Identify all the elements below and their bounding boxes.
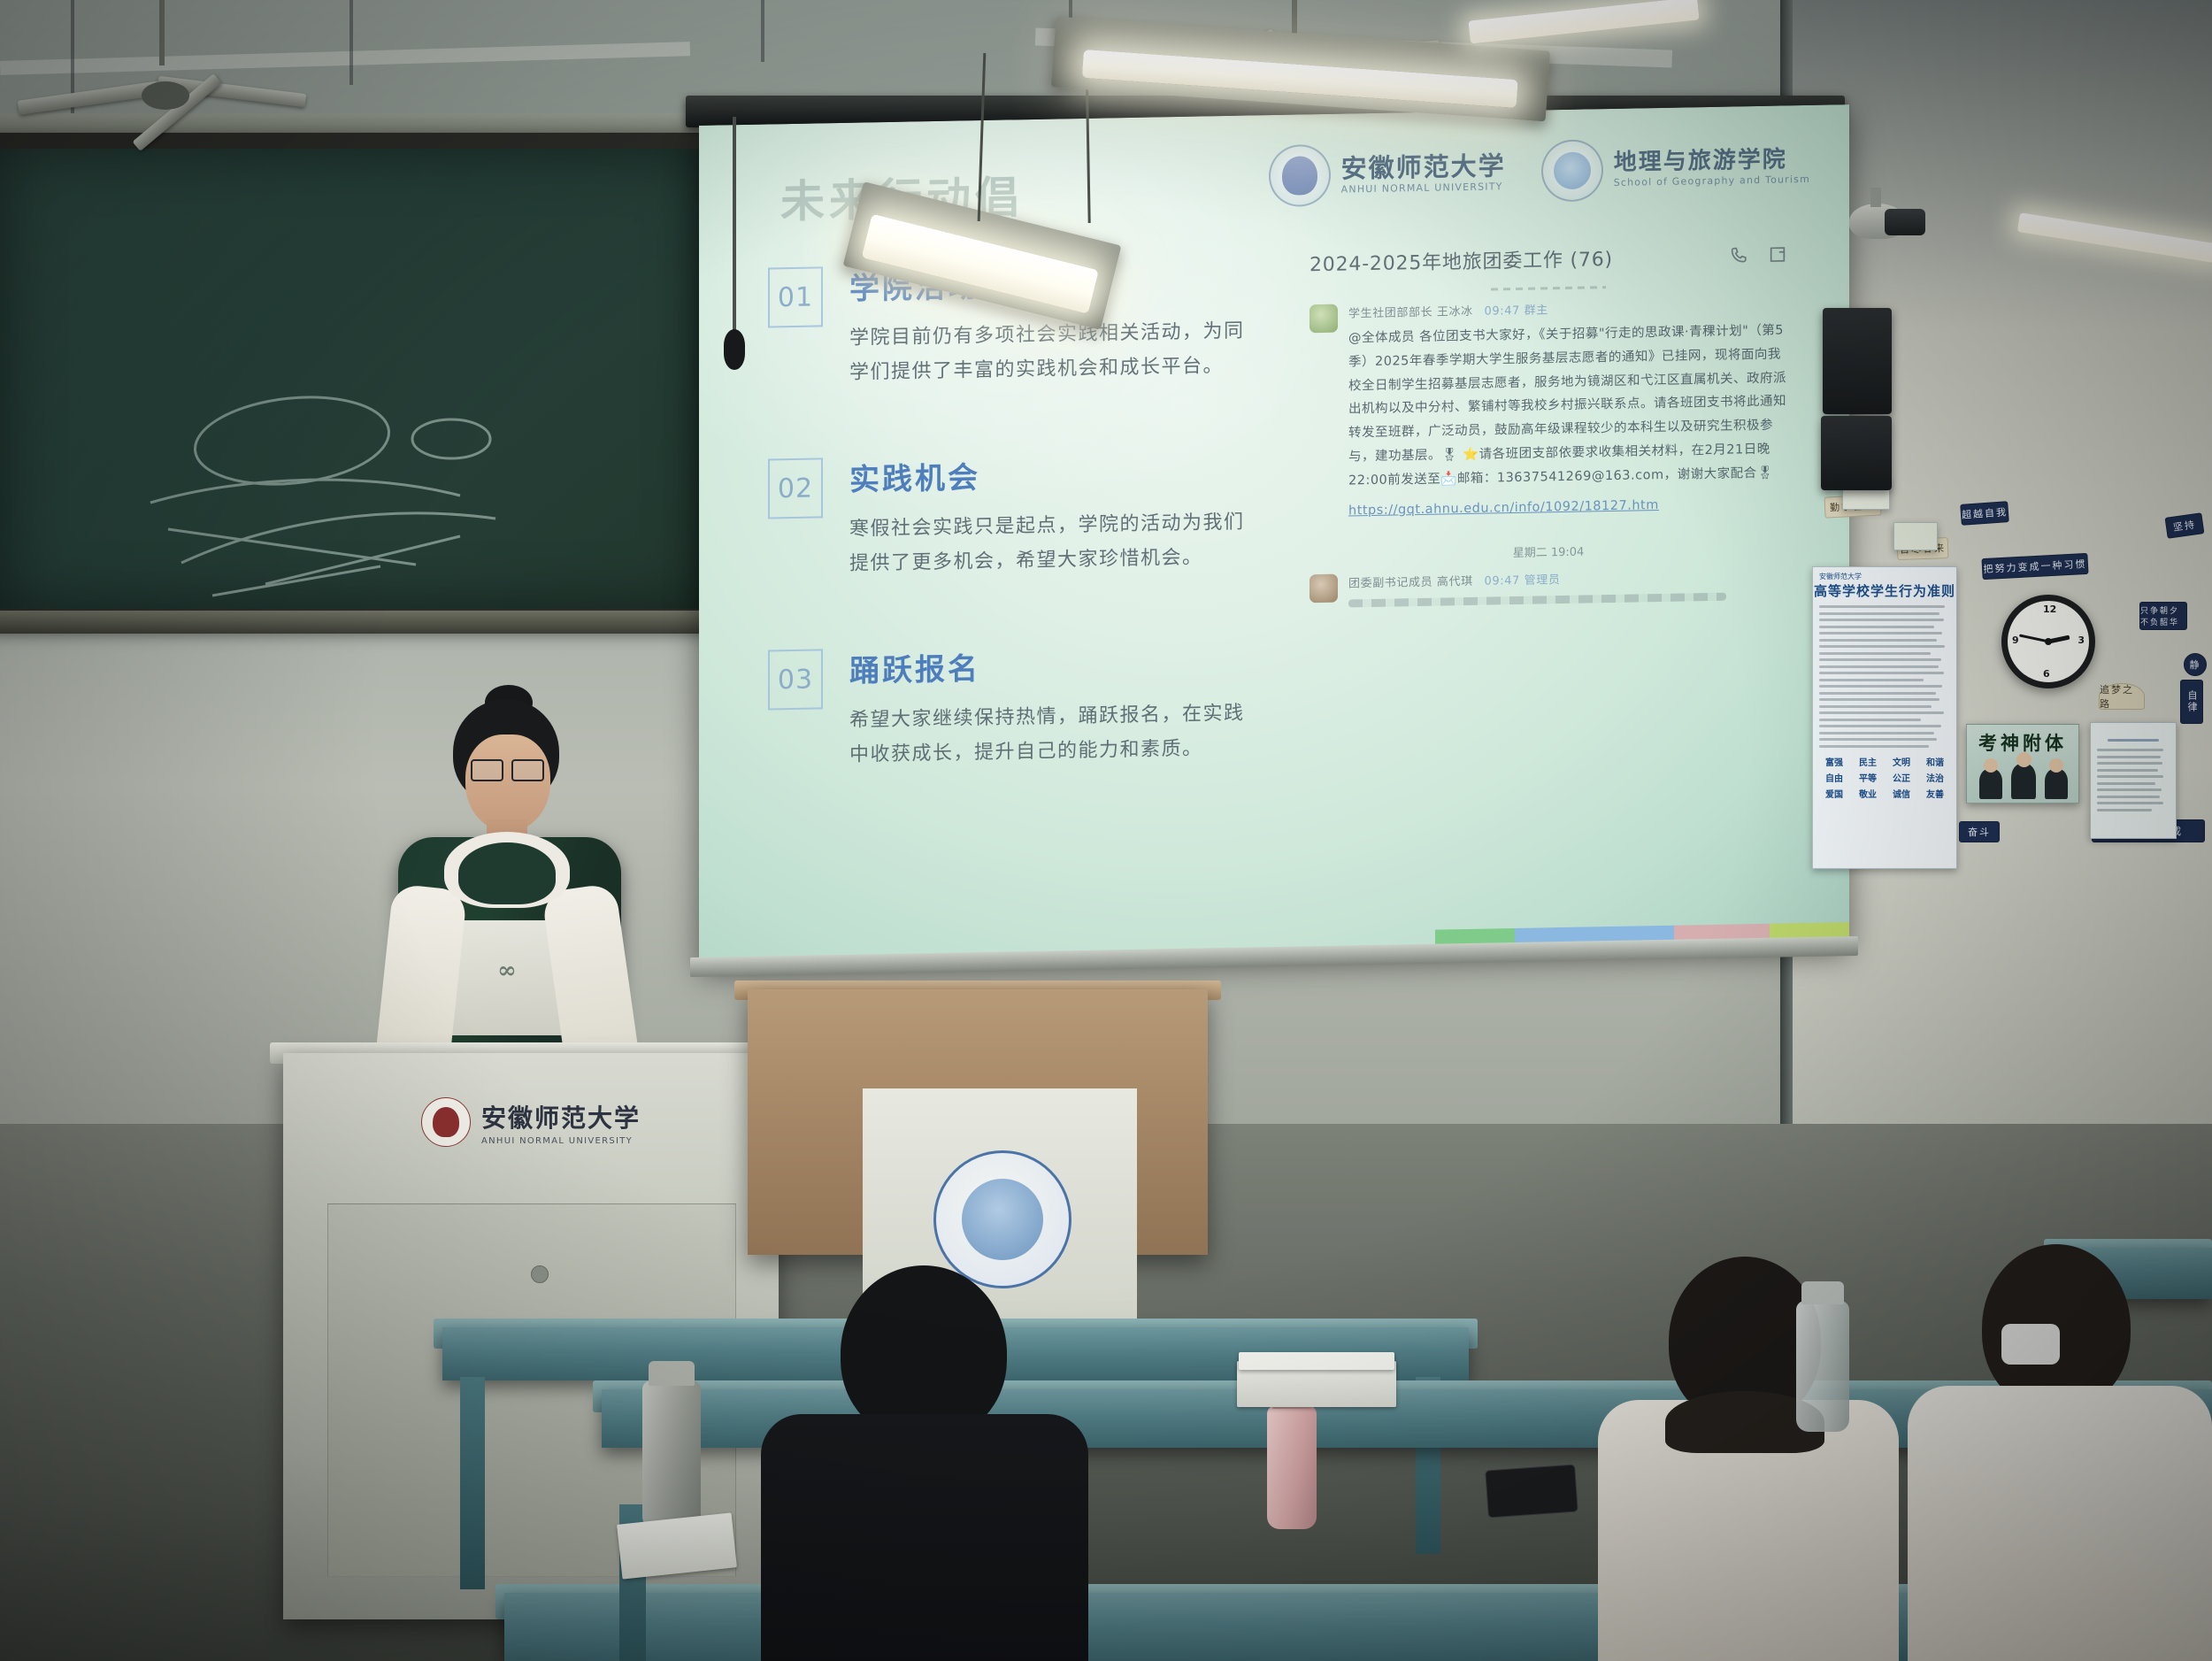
core-value: 诚信: [1886, 787, 1917, 800]
bottle-cap[interactable]: [1801, 1281, 1844, 1304]
sender-name: 团委副书记成员 高代琪: [1348, 574, 1473, 590]
wall-speaker: [1823, 308, 1892, 414]
core-value: 富强: [1818, 755, 1850, 768]
student: [1584, 1257, 1911, 1661]
core-value: 法治: [1919, 771, 1951, 784]
core-values-list: 富强 民主 文明 和谐 自由 平等 公正 法治 爱国 敬业 诚信 友善: [1818, 755, 1951, 800]
core-value: 爱国: [1818, 787, 1850, 800]
slide-item: 02 实践机会 寒假社会实践只是起点，学院的活动为我们提供了更多机会，希望大家珍…: [768, 448, 1263, 582]
hanging-microphone-icon: [724, 329, 745, 370]
core-value: 自由: [1818, 771, 1850, 784]
logo-cn-label: 地理与旅游学院: [1614, 148, 1810, 175]
item-number: 01: [768, 266, 823, 327]
sender-name: 学生社团部部长 王冰冰: [1348, 305, 1473, 321]
wall-plaque: 自律: [2180, 680, 2203, 724]
wall-plaque: 超越自我: [1960, 501, 2009, 526]
anhui-normal-seal-icon: [1269, 144, 1331, 207]
lectern-knob[interactable]: [531, 1265, 549, 1283]
slide-item: 03 踊跃报名 希望大家继续保持热情，踊跃报名，在实践中收获成长，提升自己的能力…: [768, 639, 1263, 773]
poster-body-lines: [1819, 605, 1950, 748]
chat-timestamp: 星期二 19:04: [1310, 538, 1787, 564]
core-value: 友善: [1919, 787, 1951, 800]
chat-screenshot: 2024-2025年地旅团委工作 (76): [1310, 240, 1787, 607]
core-value: 文明: [1886, 755, 1917, 768]
core-value: 和谐: [1919, 755, 1951, 768]
item-number: 03: [768, 649, 823, 710]
logo-cn-label: 安徽师范大学: [1341, 152, 1506, 182]
screen-share-icon[interactable]: [1768, 244, 1787, 264]
message-sender: 学生社团部部长 王冰冰 09:47 群主: [1348, 296, 1787, 320]
chat-message: 团委副书记成员 高代琪 09:47 管理员: [1310, 565, 1787, 608]
phone[interactable]: [1485, 1465, 1578, 1519]
logo-en-label: School of Geography and Tourism: [1614, 174, 1810, 188]
core-value: 民主: [1852, 755, 1884, 768]
jacket-graphic: ∞: [451, 957, 565, 984]
message-body: @全体成员 各位团支书大家好，《关于招募"行走的思政课·青稞计划"（第5季）20…: [1348, 319, 1787, 493]
item-heading: 踊跃报名: [849, 639, 1263, 690]
logo-anhui-normal-university: 安徽师范大学 ANHUI NORMAL UNIVERSITY: [1269, 141, 1506, 207]
avatar: [1310, 304, 1338, 334]
face: [465, 734, 550, 832]
notebook-page[interactable]: [1239, 1352, 1394, 1370]
clock-center: [2045, 638, 2052, 645]
avatar: [1310, 573, 1338, 603]
wall-plaque: 静: [2184, 653, 2207, 676]
ceiling-fan: [18, 62, 310, 133]
hood-inner: [458, 842, 556, 904]
chat-title: 2024-2025年地旅团委工作 (76): [1310, 243, 1613, 277]
chat-message: 学生社团部部长 王冰冰 09:47 群主 @全体成员 各位团支书大家好，《关于招…: [1310, 296, 1787, 523]
ceiling-wire: [349, 0, 353, 85]
microphone-cable: [733, 117, 736, 336]
message-body-blurred: [1348, 592, 1726, 607]
item-number: 02: [768, 458, 823, 519]
wall-clock: 12 3 6 9: [2001, 595, 2095, 688]
wall-speaker: [1821, 416, 1892, 490]
chat-header: 2024-2025年地旅团委工作 (76): [1310, 240, 1787, 277]
lectern-logo: 安徽师范大学 ANHUI NORMAL UNIVERSITY: [421, 1097, 641, 1147]
message-sender: 团委副书记成员 高代琪 09:47 管理员: [1348, 565, 1787, 590]
wall-plaque: 奋斗: [1959, 821, 2000, 842]
classroom-scene: 未来行动倡 安徽师范大学 ANHUI NORMAL UNIVERSITY 地理与…: [0, 0, 2212, 1661]
lectern-logo-en: ANHUI NORMAL UNIVERSITY: [481, 1136, 641, 1146]
item-text: 寒假社会实践只是起点，学院的活动为我们提供了更多机会，希望大家珍惜机会。: [849, 505, 1263, 581]
geography-tourism-seal-icon: [1541, 139, 1603, 202]
core-value: 公正: [1886, 771, 1917, 784]
message-link[interactable]: https://gqt.ahnu.edu.cn/info/1092/18127.…: [1348, 498, 1659, 518]
thermos-cap[interactable]: [649, 1361, 695, 1386]
core-value: 敬业: [1852, 787, 1884, 800]
wall-plaque: 只争朝夕 不负韶华: [2139, 602, 2187, 630]
glasses-icon: [471, 759, 545, 779]
student: [734, 1265, 1106, 1661]
wall-sign: [1893, 522, 1938, 550]
anhui-normal-seal-icon: [421, 1097, 471, 1147]
exam-poster-title: 考神附体: [1967, 725, 2078, 756]
water-bottle[interactable]: [1796, 1301, 1849, 1432]
item-text: 学院目前仍有多项社会实践相关活动，为同学们提供了丰富的实践机会和成长平台。: [849, 314, 1263, 390]
thermos[interactable]: [642, 1380, 701, 1529]
logo-en-label: ANHUI NORMAL UNIVERSITY: [1341, 181, 1506, 195]
phone-icon[interactable]: [1729, 245, 1748, 265]
item-heading: 实践机会: [849, 448, 1263, 499]
slide-logos: 安徽师范大学 ANHUI NORMAL UNIVERSITY 地理与旅游学院 S…: [1269, 135, 1810, 207]
sender-tag: 09:47 管理员: [1484, 573, 1560, 588]
wall-notice: [2090, 722, 2177, 839]
item-text: 希望大家继续保持热情，踊跃报名，在实践中收获成长，提升自己的能力和素质。: [849, 696, 1263, 773]
logo-school-of-geography-and-tourism: 地理与旅游学院 School of Geography and Tourism: [1541, 135, 1810, 203]
poster-title: 高等学校学生行为准则: [1813, 581, 1956, 600]
core-value: 平等: [1852, 771, 1884, 784]
sender-tag: 09:47 群主: [1484, 304, 1548, 318]
student-code-poster: 安徽师范大学 高等学校学生行为准则 富强 民主 文明 和谐 自由 平等 公正 法…: [1812, 566, 1957, 869]
ceiling-wire: [761, 0, 764, 62]
wall-plaque: 追梦之路: [2099, 683, 2145, 710]
poster-brand: 安徽师范大学: [1813, 567, 1956, 581]
desk-leg: [460, 1377, 485, 1589]
exam-blessing-poster: 考神附体: [1966, 724, 2079, 804]
chalk-tray: [0, 611, 726, 634]
chalk-doodles-icon: [0, 149, 708, 609]
face-mask-icon: [2001, 1324, 2060, 1365]
pink-bottle[interactable]: [1267, 1405, 1317, 1529]
slide-item-list: 01 学院活动 学院目前仍有多项社会实践相关活动，为同学们提供了丰富的实践机会和…: [768, 257, 1263, 839]
projector-device: [1885, 209, 1925, 235]
chat-date-divider: [1491, 286, 1606, 290]
lectern-logo-cn: 安徽师范大学: [481, 1099, 641, 1134]
student: [1902, 1239, 2212, 1661]
blackboard: [0, 149, 708, 609]
